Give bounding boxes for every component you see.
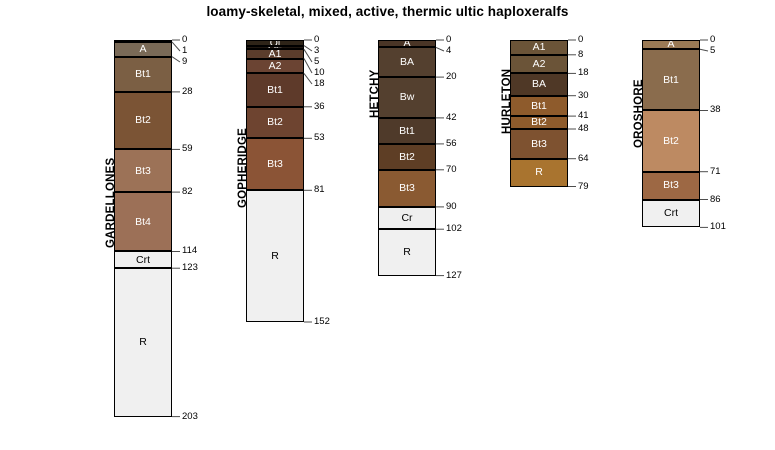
horizon-label: Bw <box>400 92 415 103</box>
horizon-bt1[interactable]: Bt1 <box>246 73 304 106</box>
horizon-label: R <box>271 251 279 262</box>
depth-tick-label: 0 <box>182 35 187 45</box>
depth-tick-label: 18 <box>314 79 325 89</box>
horizon-bt1[interactable]: Bt1 <box>510 96 568 116</box>
depth-tick-label: 41 <box>578 111 589 121</box>
soil-profile-plot: loamy-skeletal, mixed, active, thermic u… <box>0 0 775 450</box>
depth-tick-label: 86 <box>710 195 721 205</box>
depth-tick-label: 0 <box>314 35 319 45</box>
depth-tick-label: 90 <box>446 202 457 212</box>
horizon-label: Bt2 <box>267 117 283 128</box>
depth-tick-label: 101 <box>710 222 726 232</box>
depth-tick-label: 30 <box>578 91 589 101</box>
depth-tick-label: 53 <box>314 133 325 143</box>
horizon-bt2[interactable]: Bt2 <box>378 144 436 170</box>
horizon-label: Bt3 <box>531 139 547 150</box>
horizon-bt3[interactable]: Bt3 <box>378 170 436 207</box>
horizon-label: A2 <box>269 61 282 72</box>
horizon-label: BA <box>400 57 414 68</box>
horizon-label: R <box>403 247 411 258</box>
horizon-label: Cr <box>401 213 412 224</box>
depth-tick-label: 127 <box>446 271 462 281</box>
horizon-label: Bt1 <box>267 85 283 96</box>
horizon-label: A1 <box>269 49 282 58</box>
horizon-bt2[interactable]: Bt2 <box>642 110 700 171</box>
depth-tick-label: 8 <box>578 50 583 60</box>
horizon-r[interactable]: R <box>114 268 172 416</box>
horizon-label: Bt2 <box>135 115 151 126</box>
horizon-label: Bt2 <box>399 152 415 163</box>
horizon-label: Bt4 <box>135 217 151 228</box>
depth-tick-label: 9 <box>182 57 187 67</box>
depth-tick-label: 3 <box>314 46 319 56</box>
page-title: loamy-skeletal, mixed, active, thermic u… <box>0 4 775 19</box>
horizon-bt3[interactable]: Bt3 <box>246 138 304 190</box>
depth-tick-label: 59 <box>182 144 193 154</box>
depth-tick-label: 56 <box>446 139 457 149</box>
horizon-a1[interactable]: A1 <box>510 40 568 55</box>
horizon-label: Bt3 <box>267 159 283 170</box>
depth-tick-label: 82 <box>182 187 193 197</box>
horizon-bt1[interactable]: Bt1 <box>114 57 172 92</box>
depth-tick-label: 152 <box>314 317 330 327</box>
horizon-label: Crt <box>664 208 678 219</box>
horizon-bw[interactable]: Bw <box>378 77 436 118</box>
horizon-bt3[interactable]: Bt3 <box>114 149 172 192</box>
depth-tick-label: 42 <box>446 113 457 123</box>
depth-tick-label: 5 <box>710 46 715 56</box>
horizon-label: Bt1 <box>135 69 151 80</box>
horizon-ba[interactable]: BA <box>510 73 568 95</box>
depth-leader-lines <box>172 0 212 450</box>
horizon-a[interactable]: A <box>114 42 172 57</box>
horizon-bt2[interactable]: Bt2 <box>246 107 304 139</box>
horizon-bt4[interactable]: Bt4 <box>114 192 172 251</box>
depth-tick-label: 38 <box>710 105 721 115</box>
horizon-label: Crt <box>136 255 150 266</box>
horizon-label: Bt3 <box>663 180 679 191</box>
depth-tick-label: 48 <box>578 124 589 134</box>
horizon-label: Bt3 <box>399 183 415 194</box>
horizon-label: Bt2 <box>663 136 679 147</box>
depth-tick-label: 36 <box>314 102 325 112</box>
depth-tick-label: 114 <box>182 246 197 256</box>
horizon-a2[interactable]: A2 <box>510 55 568 74</box>
horizon-bt3[interactable]: Bt3 <box>510 129 568 159</box>
horizon-a[interactable]: A <box>378 40 436 47</box>
horizon-label: A1 <box>533 42 546 53</box>
depth-tick-label: 20 <box>446 72 457 82</box>
horizon-ba[interactable]: BA <box>378 47 436 77</box>
depth-tick-label: 5 <box>314 57 319 67</box>
depth-tick-label: 0 <box>710 35 715 45</box>
horizon-crt[interactable]: Crt <box>114 251 172 268</box>
depth-tick-label: 102 <box>446 224 462 234</box>
horizon-label: Bt1 <box>663 75 679 86</box>
depth-tick-label: 0 <box>446 35 451 45</box>
horizon-cr[interactable]: Cr <box>378 207 436 229</box>
horizon-label: A2 <box>533 59 546 70</box>
horizon-bt1[interactable]: Bt1 <box>378 118 436 144</box>
depth-tick-label: 70 <box>446 165 457 175</box>
horizon-label: Bt1 <box>399 126 415 137</box>
depth-tick-label: 71 <box>710 167 721 177</box>
horizon-label: Bt2 <box>531 117 547 128</box>
depth-tick-label: 81 <box>314 185 325 195</box>
depth-tick-label: 4 <box>446 46 451 56</box>
depth-tick-label: 0 <box>578 35 583 45</box>
horizon-label: BA <box>532 79 546 90</box>
horizon-bt2[interactable]: Bt2 <box>510 116 568 129</box>
horizon-a[interactable]: A <box>642 40 700 49</box>
horizon-crt[interactable]: Crt <box>642 200 700 228</box>
horizon-bt3[interactable]: Bt3 <box>642 172 700 200</box>
horizon-label: Bt1 <box>531 101 547 112</box>
horizon-label: Bt3 <box>135 166 151 177</box>
depth-tick-label: 123 <box>182 263 198 273</box>
depth-tick-label: 18 <box>578 68 589 78</box>
horizon-a1[interactable]: A1 <box>246 49 304 58</box>
horizon-r[interactable]: R <box>246 190 304 322</box>
depth-tick-label: 64 <box>578 154 589 164</box>
depth-tick-label: 79 <box>578 182 589 192</box>
depth-tick-label: 1 <box>182 46 187 56</box>
horizon-label: A <box>139 44 146 55</box>
horizon-r[interactable]: R <box>510 159 568 187</box>
depth-tick-label: 10 <box>314 68 325 78</box>
horizon-r[interactable]: R <box>378 229 436 275</box>
horizon-label: A <box>403 40 410 47</box>
depth-tick-label: 28 <box>182 87 193 97</box>
horizon-bt2[interactable]: Bt2 <box>114 92 172 150</box>
horizon-a2[interactable]: A2 <box>246 59 304 74</box>
depth-tick-label: 203 <box>182 412 198 422</box>
horizon-label: R <box>139 337 147 348</box>
horizon-label: R <box>535 167 543 178</box>
horizon-label: A <box>667 40 674 49</box>
horizon-bt1[interactable]: Bt1 <box>642 49 700 110</box>
